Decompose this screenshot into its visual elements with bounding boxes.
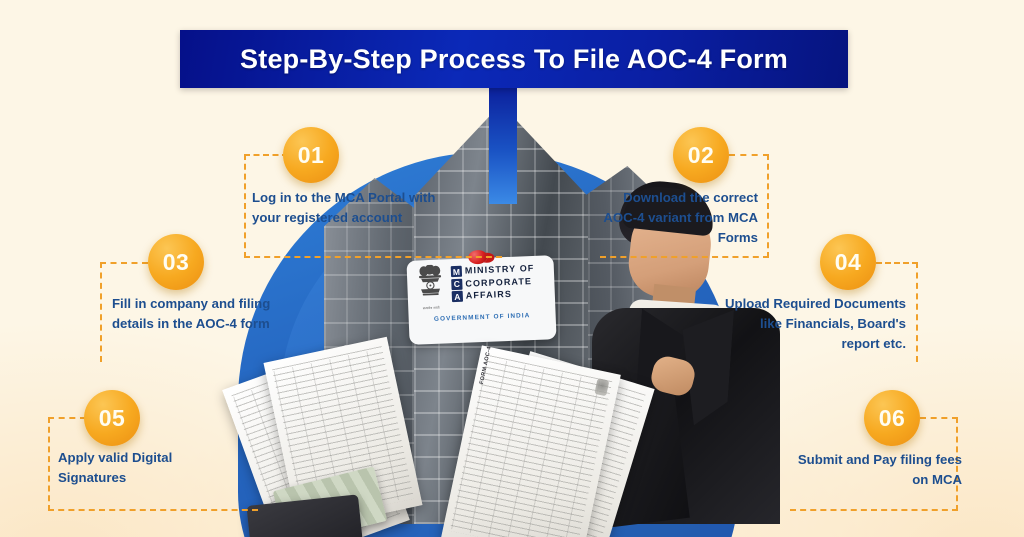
step-4-dash-top [876,262,918,264]
step-2-dash-right [767,154,769,258]
mca-letter-a: A [452,291,463,302]
step-3-text: Fill in company and filing details in th… [112,294,300,334]
step-5-dash-top [48,417,86,419]
step-6-dash-bottom [790,509,958,511]
mca-letter-stack: M MINISTRY OF C CORPORATE A AFFAIRS [451,261,536,302]
mca-letter-c: C [451,278,462,289]
emblem-motto: सत्यमेव जयते [423,306,440,311]
step-4-badge[interactable]: 04 [820,234,876,290]
step-3-dash-left [100,262,102,362]
step-4-text: Upload Required Documents like Financial… [722,294,906,354]
step-6-badge[interactable]: 06 [864,390,920,446]
mca-word-affairs: AFFAIRS [466,290,513,301]
mca-word-corporate: CORPORATE [465,277,532,289]
mca-logo-card: सत्यमेव जयते M MINISTRY OF C CORPORATE A… [406,255,556,345]
step-5-dash-left [48,417,50,511]
page-title: Step-By-Step Process To File AOC-4 Form [240,44,788,75]
title-connector-stem [489,86,517,204]
mca-letter-m: M [451,266,462,277]
step-1-dash-top [244,154,288,156]
step-5-text: Apply valid Digital Signatures [58,448,234,488]
step-3-dash-top [100,262,148,264]
step-5-badge[interactable]: 05 [84,390,140,446]
step-5-dash-bottom [48,509,258,511]
mca-word-ministry: MINISTRY OF [465,264,535,276]
infographic-root: सत्यमेव जयते M MINISTRY OF C CORPORATE A… [0,0,1024,537]
step-4-dash-right [916,262,918,362]
title-banner: Step-By-Step Process To File AOC-4 Form [180,30,848,88]
step-3-badge[interactable]: 03 [148,234,204,290]
step-2-dash-bottom [600,256,769,258]
step-1-dash-left [244,154,246,258]
step-1-badge[interactable]: 01 [283,127,339,183]
step-1-dash-bottom [244,256,502,258]
ashoka-pillar-emblem-icon: सत्यमेव जयते [414,264,448,313]
mca-subtitle: GOVERNMENT OF INDIA [416,311,549,323]
step-6-text: Submit and Pay filing fees on MCA [790,450,962,490]
step-2-text: Download the correct AOC-4 variant from … [590,188,758,248]
document-grid-boxes [451,357,611,537]
step-6-dash-top [920,417,958,419]
step-2-dash-top [729,154,769,156]
step-2-badge[interactable]: 02 [673,127,729,183]
step-1-text: Log in to the MCA Portal with your regis… [252,188,438,228]
